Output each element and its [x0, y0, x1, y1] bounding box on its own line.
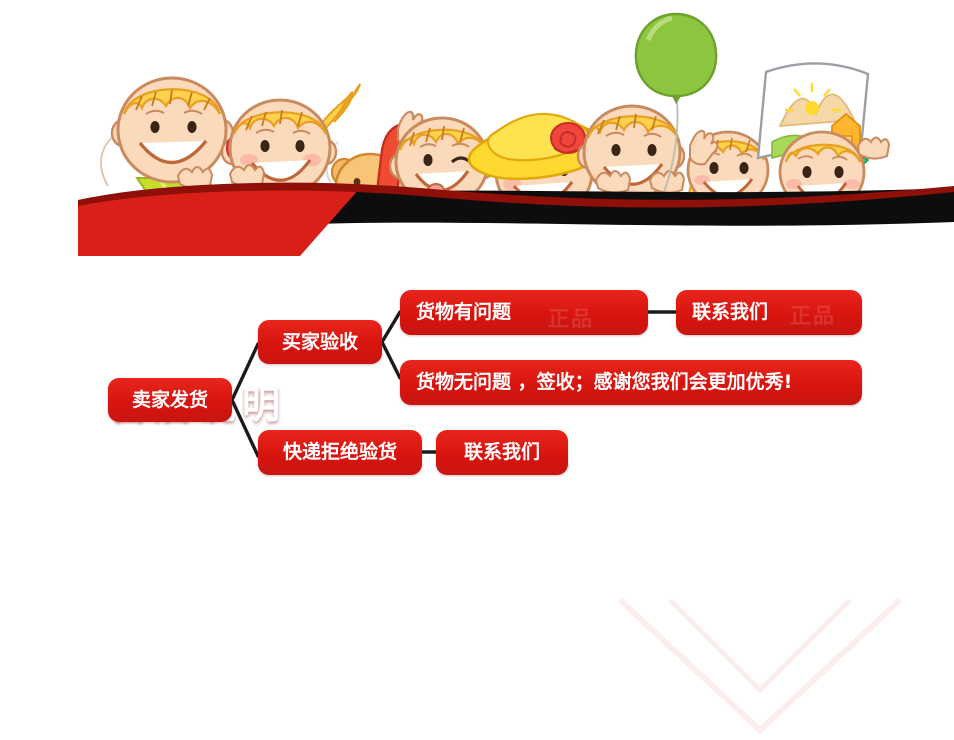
flow-node-label: 货物有问题: [416, 303, 511, 322]
banner-shape-svg: [0, 178, 954, 260]
flow-node-goods-no-problem[interactable]: 货物无问题 ，签收；感谢您我们会更加优秀!: [400, 360, 862, 405]
flow-node-label: 货物无问题 ，签收；感谢您我们会更加优秀!: [416, 373, 792, 392]
flow-node-buyer-inspects[interactable]: 买家验收: [258, 320, 382, 364]
edge-ship-reject: [232, 400, 258, 456]
cartoon-children-illustration: [0, 0, 954, 200]
after-sales-banner: 售后说明: [0, 178, 954, 260]
flow-node-goods-have-problem[interactable]: 货物有问题: [400, 290, 648, 335]
page-root: 售后说明: [0, 0, 954, 492]
flow-node-label: 买家验收: [282, 333, 358, 352]
flow-node-seller-ships[interactable]: 卖家发货: [108, 378, 232, 422]
flow-node-label: 联系我们: [692, 303, 768, 322]
edge-ship-accept: [232, 344, 258, 400]
flow-node-label: 快递拒绝验货: [283, 443, 397, 462]
after-sales-flowchart: 卖家发货 买家验收 货物有问题 正品 联系我们 正品 货物无问题 ，签收；感谢您…: [0, 260, 954, 492]
edge-accept-problem: [382, 312, 400, 342]
flow-node-label: 卖家发货: [132, 391, 208, 410]
flow-node-contact-us-2[interactable]: 联系我们: [436, 430, 568, 475]
flow-node-courier-refuses-inspection[interactable]: 快递拒绝验货: [258, 430, 422, 475]
children-svg: [0, 0, 954, 200]
edge-accept-ok: [382, 342, 400, 378]
background-watermark: [600, 590, 920, 740]
flow-node-label: 联系我们: [464, 443, 540, 462]
flow-node-contact-us-1[interactable]: 联系我们: [676, 290, 862, 335]
